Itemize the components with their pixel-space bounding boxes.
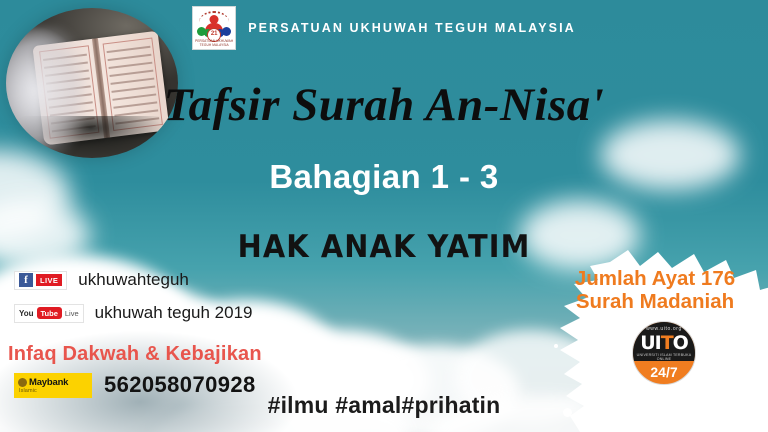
organisation-logo-caption: PERSATUAN UKHUWAH TEGUH MALAYSIA	[193, 39, 235, 47]
facebook-handle: ukhuwahteguh	[78, 270, 189, 290]
youtube-handle: ukhuwah teguh 2019	[95, 303, 253, 323]
youtube-tube-icon: Tube	[37, 307, 62, 319]
uito-letters-ui: UI	[640, 332, 661, 354]
organisation-title: PERSATUAN UKHUWAH TEGUH MALAYSIA	[248, 21, 576, 35]
poster-canvas: 21 PERSATUAN UKHUWAH TEGUH MALAYSIA PERS…	[0, 0, 768, 432]
youtube-row[interactable]: You Tube Live ukhuwah teguh 2019	[14, 303, 253, 323]
splash-line-1: Jumlah Ayat 176	[560, 268, 750, 291]
facebook-live-label: LIVE	[36, 274, 62, 286]
donation-heading: Infaq Dakwah & Kebajikan	[8, 343, 262, 366]
uito-letters-o: O	[673, 332, 688, 354]
page-title: Tafsir Surah An-Nisa'	[0, 78, 768, 132]
social-links: f LIVE ukhuwahteguh You Tube Live ukhuwa…	[14, 270, 253, 336]
organisation-logo-icon: 21 PERSATUAN UKHUWAH TEGUH MALAYSIA	[192, 6, 236, 50]
maybank-islamic-logo: Maybank Islamic	[14, 373, 92, 398]
splash-line-2: Surah Madaniah	[560, 291, 750, 314]
poster-header: 21 PERSATUAN UKHUWAH TEGUH MALAYSIA PERS…	[0, 0, 768, 56]
bank-name: Maybank	[29, 377, 68, 388]
bank-sub-label: Islamic	[18, 388, 92, 394]
maybank-tiger-icon	[18, 378, 27, 387]
youtube-live-label: Live	[65, 309, 79, 318]
youtube-live-badge[interactable]: You Tube Live	[14, 304, 84, 323]
bank-account-number: 562058070928	[104, 372, 256, 398]
tagline: HAK ANAK YATIM	[27, 229, 741, 265]
uito-letters-t: T	[661, 332, 673, 354]
subtitle: Bahagian 1 - 3	[0, 158, 768, 196]
splash-dot	[554, 344, 558, 348]
bank-details-row: Maybank Islamic 562058070928	[14, 372, 256, 398]
youtube-you-label: You	[19, 309, 34, 318]
uito-tagline: UNIVERSITI ISLAM TERBUKA ONLINE	[633, 353, 695, 361]
uito-letters: UITO	[633, 334, 695, 353]
uito-availability: 24/7	[633, 364, 695, 380]
uito-badge-logo: www.uito.org UITO UNIVERSITI ISLAM TERBU…	[632, 321, 696, 385]
info-splash-text: Jumlah Ayat 176 Surah Madaniah	[560, 268, 750, 314]
facebook-row[interactable]: f LIVE ukhuwahteguh	[14, 270, 253, 290]
facebook-f-icon: f	[19, 273, 33, 287]
facebook-live-badge[interactable]: f LIVE	[14, 271, 67, 290]
